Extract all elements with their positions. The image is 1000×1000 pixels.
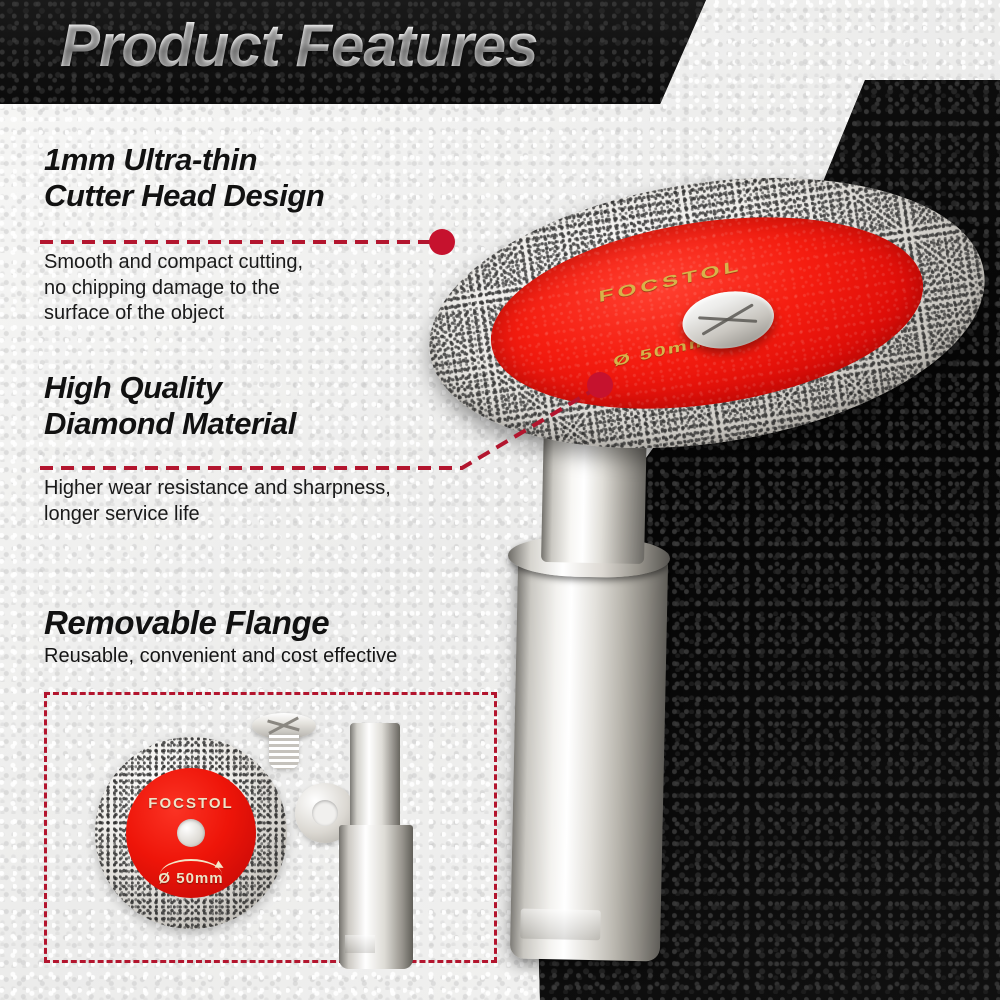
feature-2-heading-line2: Diamond Material <box>44 406 391 442</box>
feature-block-diamond-material: High Quality Diamond Material Higher wea… <box>44 370 391 527</box>
kit-flange-upper-cylinder <box>350 723 400 831</box>
product-hero-image: FOCSTOL Ø 50mm <box>430 185 1000 975</box>
feature-1-body-line1: Smooth and compact cutting, <box>44 250 324 276</box>
kit-disc-red-face: FOCSTOL Ø 50mm <box>126 768 257 899</box>
flange-lower-cylinder <box>510 553 668 961</box>
feature-block-ultra-thin: 1mm Ultra-thin Cutter Head Design Smooth… <box>44 142 324 327</box>
feature-3-subtitle: Reusable, convenient and cost effective <box>44 644 397 668</box>
kit-screw-thread <box>269 735 299 769</box>
flange-kit-dashed-box: FOCSTOL Ø 50mm <box>44 692 497 963</box>
kit-disc-diameter-label: Ø 50mm <box>126 870 257 887</box>
kit-flange-lower-cylinder <box>339 825 413 969</box>
feature-block-removable-flange: Removable Flange Reusable, convenient an… <box>44 604 397 668</box>
kit-disc-brand-label: FOCSTOL <box>126 795 257 812</box>
feature-2-body-line1: Higher wear resistance and sharpness, <box>44 476 391 502</box>
kit-cutting-disc: FOCSTOL Ø 50mm <box>95 737 287 929</box>
feature-1-body-line3: surface of the object <box>44 301 324 327</box>
page-title: Product Features <box>60 11 537 80</box>
kit-disc-center-hole <box>177 819 205 847</box>
flange-kit-parts: FOCSTOL Ø 50mm <box>47 695 494 960</box>
header-banner: Product Features <box>0 0 706 104</box>
feature-2-heading-line1: High Quality <box>44 370 391 406</box>
feature-3-heading: Removable Flange <box>44 604 397 642</box>
cutting-disc: FOCSTOL Ø 50mm <box>411 143 1000 483</box>
product-features-infographic: Product Features FOCSTOL Ø 50mm 1mm Ultr… <box>0 0 1000 1000</box>
feature-1-heading-line2: Cutter Head Design <box>44 178 324 214</box>
feature-2-body-line2: longer service life <box>44 502 391 528</box>
feature-1-heading-line1: 1mm Ultra-thin <box>44 142 324 178</box>
feature-1-body-line2: no chipping damage to the <box>44 276 324 302</box>
